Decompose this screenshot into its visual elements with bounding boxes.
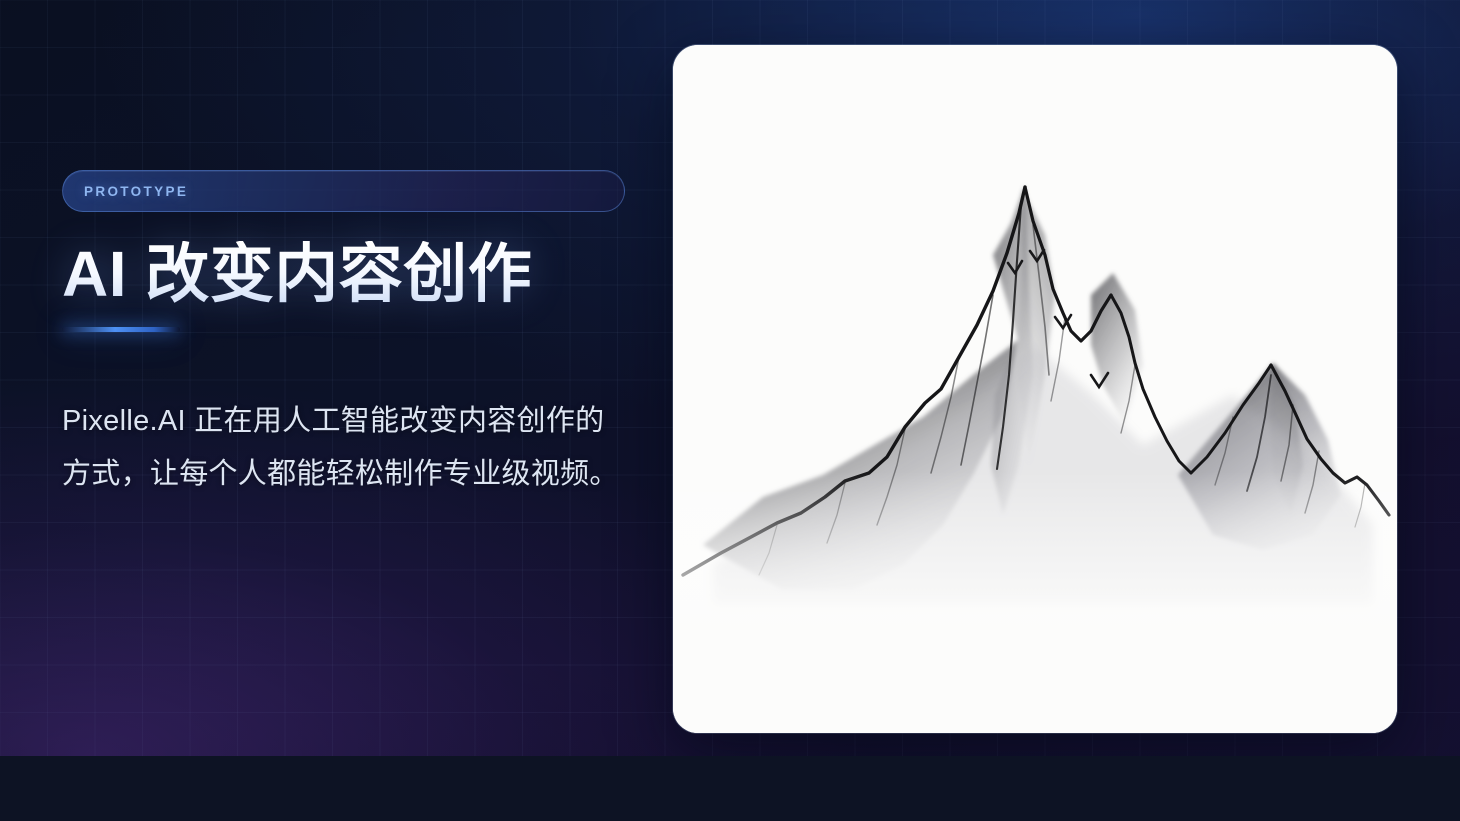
mountain-sketch-image	[673, 45, 1397, 733]
prototype-badge-label: PROTOTYPE	[84, 184, 188, 199]
left-content-column: PROTOTYPE AI 改变内容创作 Pixelle.AI 正在用人工智能改变…	[62, 170, 642, 502]
slide-root: PROTOTYPE AI 改变内容创作 Pixelle.AI 正在用人工智能改变…	[0, 0, 1460, 821]
bottom-letterbox	[0, 756, 1460, 821]
slide-stage: PROTOTYPE AI 改变内容创作 Pixelle.AI 正在用人工智能改变…	[0, 0, 1460, 756]
page-title: AI 改变内容创作	[62, 241, 642, 309]
prototype-badge: PROTOTYPE	[62, 170, 625, 212]
body-description: Pixelle.AI 正在用人工智能改变内容创作的方式，让每个人都能轻松制作专业…	[62, 395, 632, 502]
title-accent-bar	[62, 327, 180, 332]
mountain-illustration-svg	[673, 45, 1397, 733]
